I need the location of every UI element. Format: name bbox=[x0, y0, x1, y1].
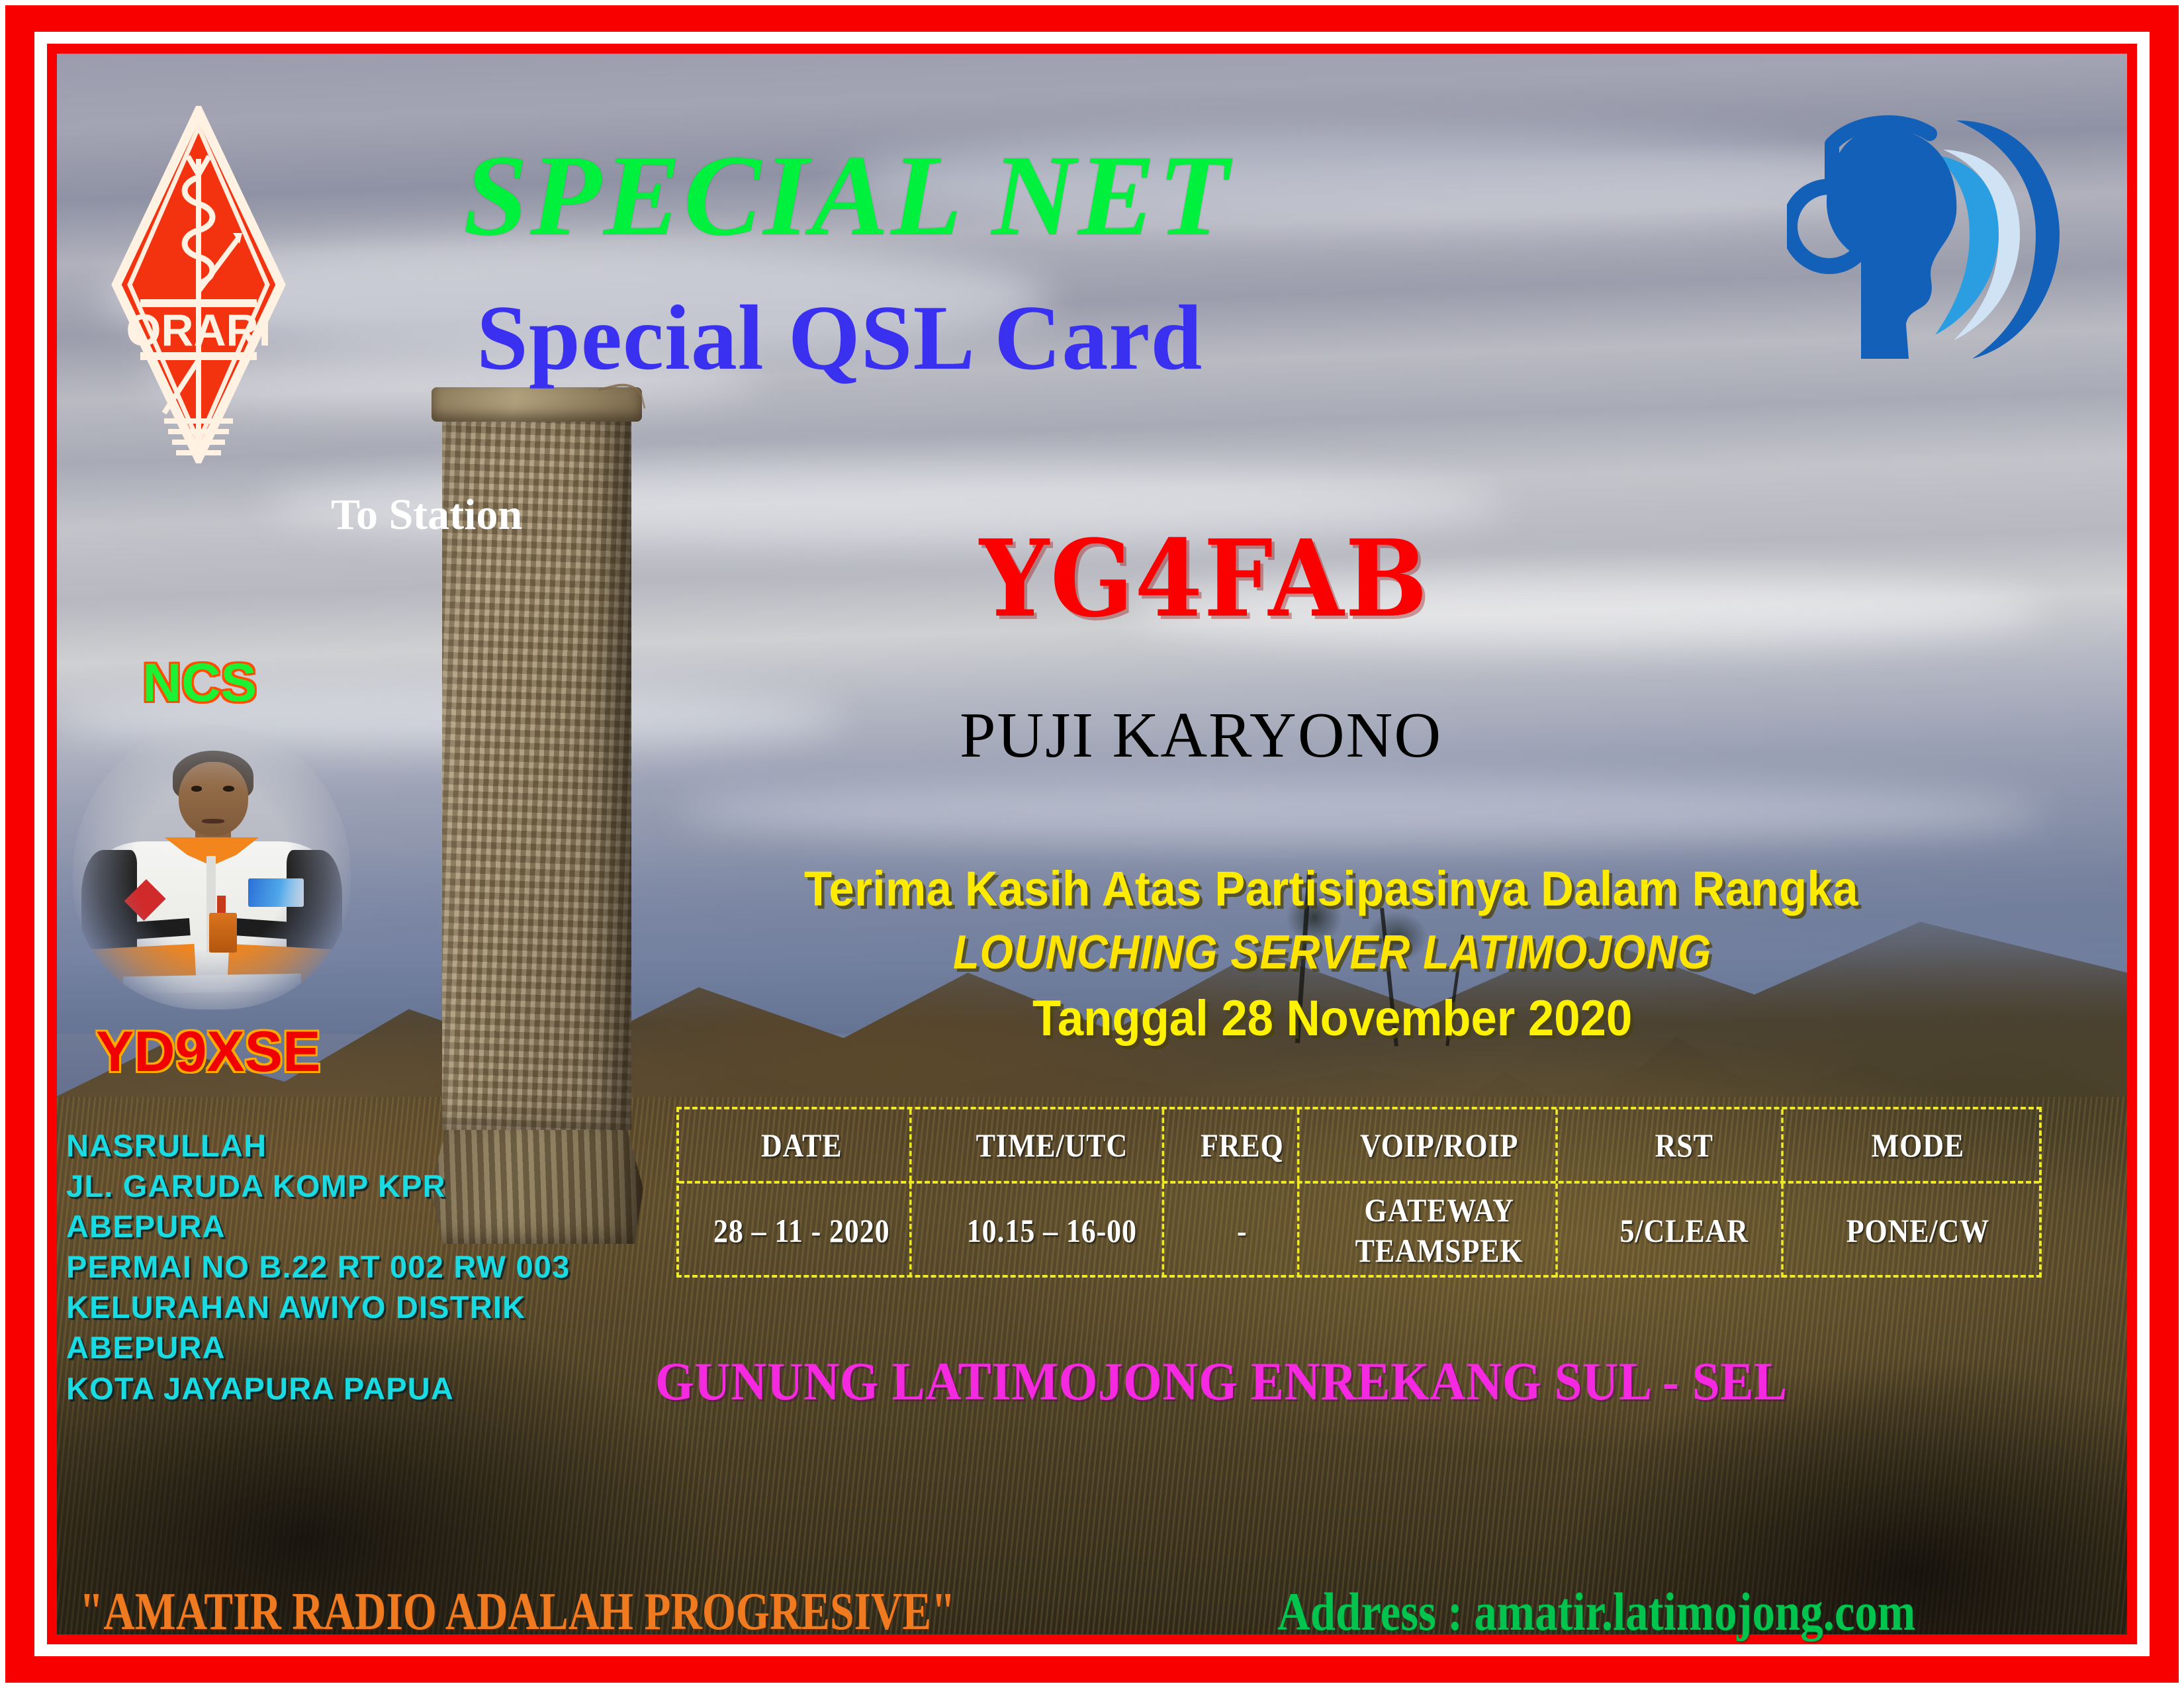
address-line: ABEPURA bbox=[66, 1206, 570, 1246]
event-date-line: Tanggal 28 November 2020 bbox=[1032, 990, 1632, 1047]
table-cell-voip: GATEWAY TEAMSPEK bbox=[1324, 1184, 1558, 1278]
location-line: GUNUNG LATIMOJONG ENREKANG SUL - SEL bbox=[655, 1350, 1788, 1413]
uniform-belt bbox=[122, 974, 300, 994]
mouth bbox=[202, 819, 224, 823]
address-line: KOTA JAYAPURA PAPUA bbox=[66, 1368, 570, 1409]
ncs-callsign: YD9XSE bbox=[96, 1019, 320, 1085]
table-header-freq: FREQ bbox=[1187, 1109, 1300, 1181]
table-cell-time: 10.15 – 16-00 bbox=[942, 1184, 1164, 1278]
table-cell-voip-line1: GATEWAY bbox=[1355, 1190, 1524, 1231]
table-header-voip: VOIP/ROIP bbox=[1324, 1109, 1558, 1181]
address-block: NASRULLAH JL. GARUDA KOMP KPR ABEPURA PE… bbox=[66, 1125, 570, 1409]
orari-logo: ORARI bbox=[106, 106, 291, 463]
eye-right bbox=[223, 786, 234, 791]
event-thanks-line: Terima Kasih Atas Partisipasinya Dalam R… bbox=[804, 861, 1858, 917]
address-line: KELURAHAN AWIYO DISTRIK bbox=[66, 1287, 570, 1327]
station-callsign: YG4FAB bbox=[979, 516, 1429, 641]
footer-motto: "AMATIR RADIO ADALAH PROGRESIVE" bbox=[79, 1582, 956, 1642]
table-header-row: DATE TIME/UTC FREQ VOIP/ROIP RST MODE bbox=[679, 1109, 2039, 1181]
uniform-club-logo bbox=[248, 878, 304, 907]
table-cell-rst: 5/CLEAR bbox=[1587, 1184, 1784, 1278]
eye-left bbox=[191, 786, 203, 791]
table-cell-freq: - bbox=[1187, 1184, 1300, 1278]
table-cell-mode: PONE/CW bbox=[1811, 1184, 2025, 1278]
cloud-band bbox=[678, 780, 2044, 844]
orari-logo-text: ORARI bbox=[126, 305, 271, 355]
headset-voice-logo bbox=[1787, 99, 2065, 364]
table-cell-voip-line2: TEAMSPEK bbox=[1355, 1231, 1524, 1271]
address-line: PERMAI NO B.22 RT 002 RW 003 bbox=[66, 1246, 570, 1287]
event-subject-line: LOUNCHING SERVER LATIMOJONG bbox=[953, 925, 1711, 980]
table-header-date: DATE bbox=[694, 1109, 911, 1181]
qsl-card: ORARI SPECIAL NET Special QSL Card To St… bbox=[0, 0, 2184, 1688]
footer-web-address: Address : amatir.latimojong.com bbox=[1277, 1581, 1915, 1643]
address-line: ABEPURA bbox=[66, 1327, 570, 1368]
page-subtitle: Special QSL Card bbox=[477, 285, 1203, 391]
table-cell-date: 28 – 11 - 2020 bbox=[694, 1184, 911, 1278]
address-line: NASRULLAH bbox=[66, 1125, 570, 1166]
qso-table: DATE TIME/UTC FREQ VOIP/ROIP RST MODE 28… bbox=[676, 1107, 2042, 1278]
table-header-mode: MODE bbox=[1811, 1109, 2025, 1181]
operator-name: PUJI KARYONO bbox=[960, 698, 1442, 773]
address-line: JL. GARUDA KOMP KPR bbox=[66, 1166, 570, 1206]
ncs-label: NCS bbox=[142, 652, 257, 714]
table-header-rst: RST bbox=[1587, 1109, 1784, 1181]
to-station-label: To Station bbox=[331, 490, 522, 540]
table-header-time: TIME/UTC bbox=[942, 1109, 1164, 1181]
ncs-operator-photo bbox=[73, 725, 351, 1009]
id-badge bbox=[209, 913, 237, 953]
table-row: 28 – 11 - 2020 10.15 – 16-00 - GATEWAY T… bbox=[679, 1181, 2039, 1278]
face bbox=[179, 762, 248, 836]
page-title: SPECIAL NET bbox=[463, 129, 1232, 262]
dark-rock-right bbox=[1423, 1223, 2127, 1634]
